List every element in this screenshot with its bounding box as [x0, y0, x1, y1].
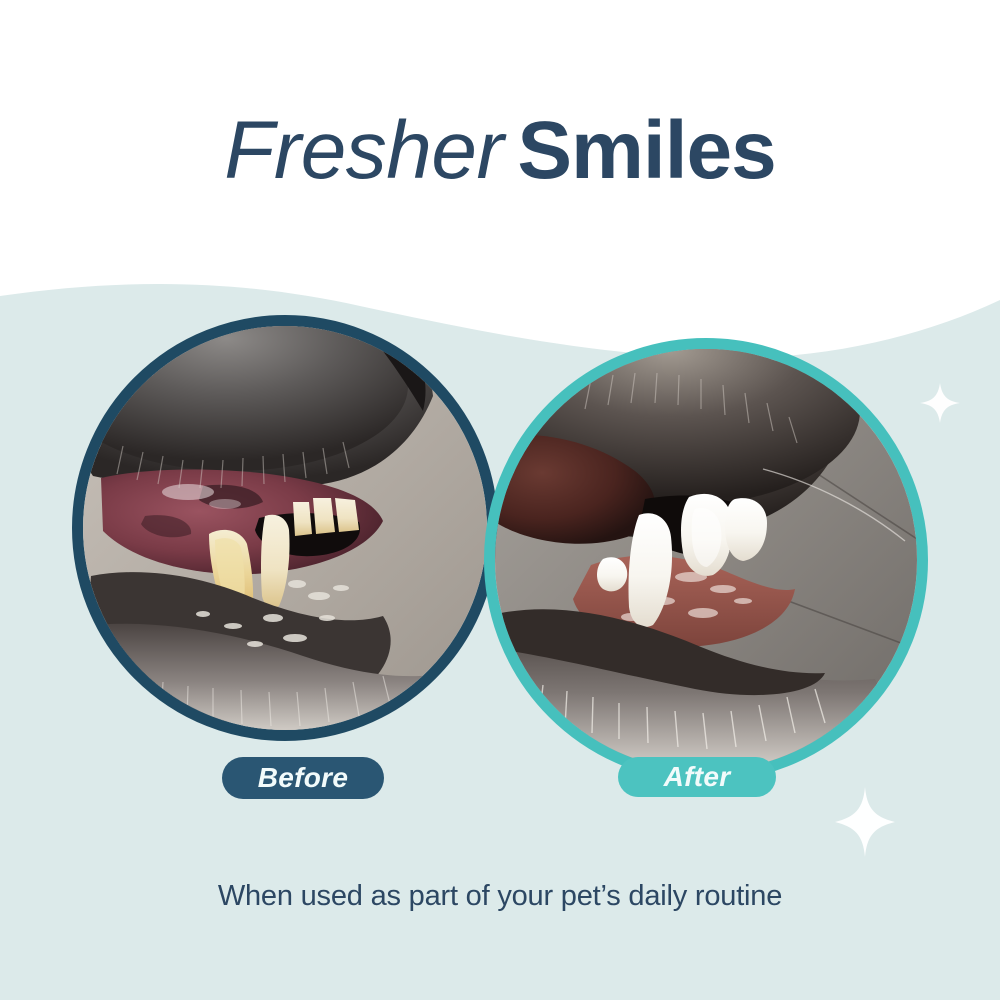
- after-photo-circle: [484, 338, 928, 782]
- page-title: FresherSmiles: [0, 110, 1000, 192]
- before-photo-circle: [72, 315, 498, 741]
- before-label-pill: Before: [222, 757, 384, 799]
- before-dog-mouth-photo: [83, 326, 487, 730]
- after-label-text: After: [664, 761, 731, 793]
- sparkle-icon: [833, 785, 897, 859]
- after-label-pill: After: [618, 757, 776, 797]
- sparkle-icon: [918, 381, 962, 425]
- poster-root: FresherSmiles: [0, 0, 1000, 1000]
- title-word-bold: Smiles: [517, 105, 775, 196]
- after-dog-mouth-photo: [495, 349, 917, 771]
- before-label-text: Before: [258, 762, 349, 794]
- caption-text: When used as part of your pet’s daily ro…: [0, 880, 1000, 913]
- title-word-light: Fresher: [224, 105, 503, 196]
